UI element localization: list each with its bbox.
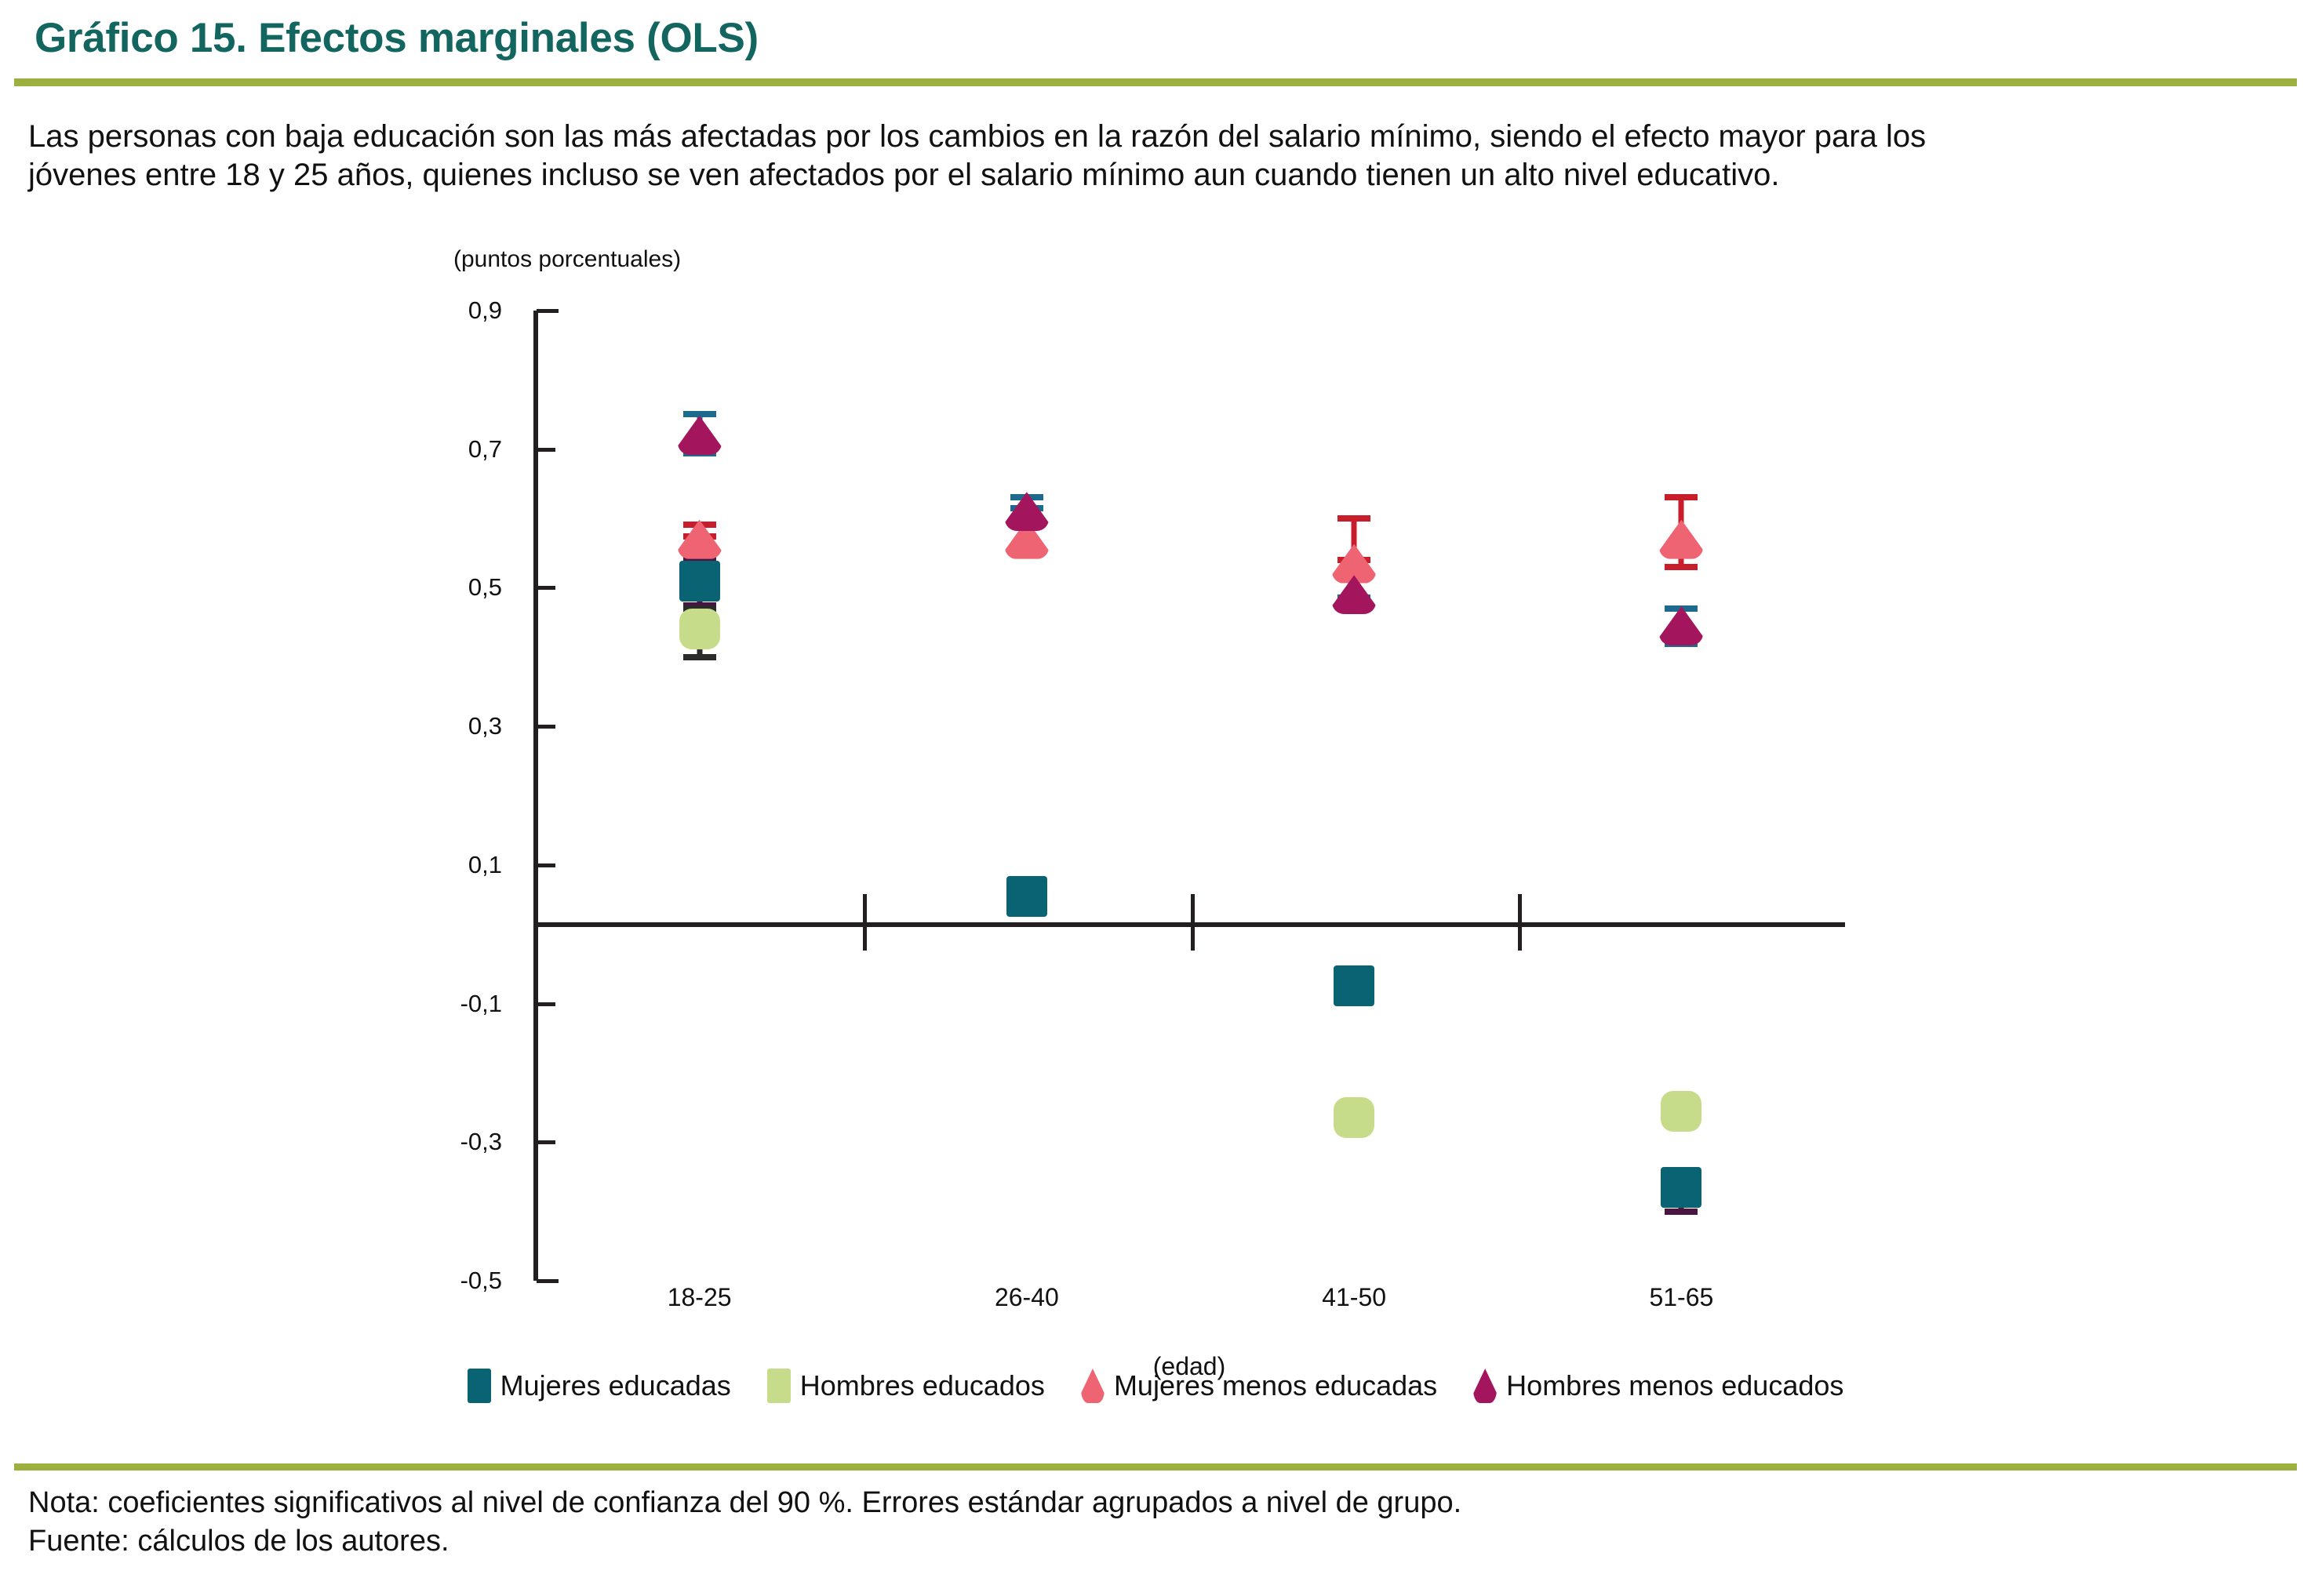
data-point-marker xyxy=(679,609,720,649)
y-tick-label: 0,9 xyxy=(392,296,502,325)
chart-legend: Mujeres educadasHombres educadosMujeres … xyxy=(0,1369,2311,1403)
data-point-marker xyxy=(1006,876,1047,917)
legend-item[interactable]: Hombres educados xyxy=(767,1369,1045,1403)
zero-baseline xyxy=(533,922,1845,927)
x-tick-label: 26-40 xyxy=(909,1283,1145,1312)
x-tick-label: 51-65 xyxy=(1563,1283,1799,1312)
y-tick-mark xyxy=(537,725,555,729)
x-tick-mark xyxy=(863,894,867,951)
data-point-marker xyxy=(1334,1097,1374,1138)
page-title: Gráfico 15. Efectos marginales (OLS) xyxy=(35,14,759,62)
footer-notes: Nota: coeficientes significativos al niv… xyxy=(28,1484,2264,1560)
legend-item[interactable]: Mujeres educadas xyxy=(468,1369,731,1403)
subtitle-line-1: Las personas con baja educación son las … xyxy=(28,118,2264,156)
y-tick-mark xyxy=(537,1279,559,1283)
legend-label: Hombres menos educados xyxy=(1506,1369,1843,1402)
data-point-marker xyxy=(679,561,720,602)
y-tick-mark xyxy=(537,448,555,452)
legend-swatch-icon xyxy=(1473,1369,1497,1403)
chart-subtitle: Las personas con baja educación son las … xyxy=(28,118,2264,195)
legend-label: Hombres educados xyxy=(800,1369,1045,1402)
legend-item[interactable]: Mujeres menos educadas xyxy=(1081,1369,1437,1403)
legend-label: Mujeres menos educadas xyxy=(1114,1369,1437,1402)
y-tick-label: -0,5 xyxy=(392,1267,502,1295)
y-axis-unit-label: (puntos porcentuales) xyxy=(453,246,681,273)
y-tick-mark xyxy=(537,309,559,313)
x-tick-mark xyxy=(1191,894,1195,951)
subtitle-line-2: jóvenes entre 18 y 25 años, quienes incl… xyxy=(28,156,2264,195)
y-tick-mark xyxy=(537,1002,555,1006)
source-text: Fuente: cálculos de los autores. xyxy=(28,1522,2264,1561)
y-tick-label: 0,3 xyxy=(392,712,502,740)
y-tick-label: -0,3 xyxy=(392,1128,502,1156)
data-point-marker xyxy=(1334,965,1374,1006)
x-tick-mark xyxy=(1518,894,1522,951)
legend-swatch-icon xyxy=(468,1369,491,1403)
y-tick-mark xyxy=(537,586,555,590)
y-tick-label: 0,1 xyxy=(392,851,502,879)
x-tick-label: 18-25 xyxy=(582,1283,817,1312)
y-tick-label: 0,5 xyxy=(392,573,502,602)
y-tick-mark xyxy=(537,863,555,867)
legend-swatch-icon xyxy=(767,1369,791,1403)
footer-divider xyxy=(14,1463,2297,1471)
chart-plot-area: (puntos porcentuales) 0,90,70,50,30,1-0,… xyxy=(0,235,2311,1380)
data-point-marker xyxy=(1661,1091,1701,1132)
y-tick-label: 0,7 xyxy=(392,435,502,464)
legend-swatch-icon xyxy=(1081,1369,1105,1403)
y-axis-line xyxy=(533,311,538,1281)
data-point-marker xyxy=(1661,1167,1701,1208)
x-tick-label: 41-50 xyxy=(1236,1283,1472,1312)
legend-label: Mujeres educadas xyxy=(500,1369,731,1402)
y-tick-mark xyxy=(537,1140,555,1144)
legend-item[interactable]: Hombres menos educados xyxy=(1473,1369,1843,1403)
title-divider xyxy=(14,78,2297,86)
y-tick-label: -0,1 xyxy=(392,990,502,1018)
note-text: Nota: coeficientes significativos al niv… xyxy=(28,1484,2264,1522)
